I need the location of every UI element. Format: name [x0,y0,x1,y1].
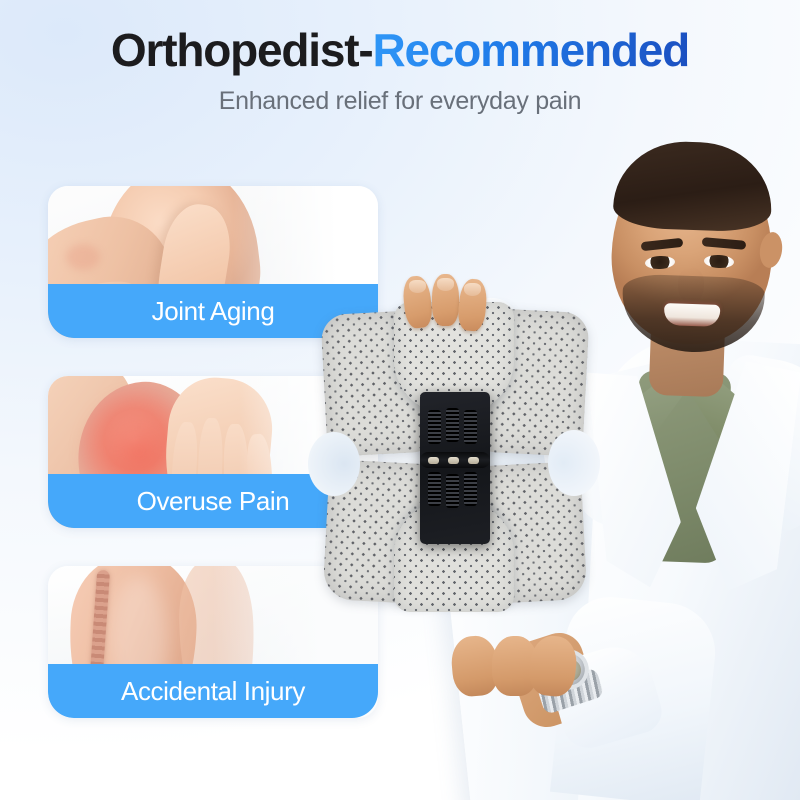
smiling-mouth [664,303,721,327]
headline-primary: Orthopedist- [111,24,373,76]
knee-brace-product [316,296,592,616]
benefit-label: Accidental Injury [121,676,305,707]
benefit-label: Overuse Pain [137,486,290,517]
fingernail [437,278,454,291]
brace-side-notch-right [548,430,600,496]
page-title: Orthopedist-Recommended [0,26,800,76]
brace-hinge-pin [448,457,459,464]
fingernail [409,280,426,293]
brace-spring [446,408,459,442]
brace-side-notch-left [308,432,360,496]
product-ad-banner: Orthopedist-Recommended Enhanced relief … [0,0,800,800]
brace-spring [428,410,441,444]
subtitle: Enhanced relief for everyday pain [0,87,800,116]
hand-holding-brace-bottom [452,636,572,702]
brace-spring [446,474,459,508]
hand-holding-brace-top [402,274,488,330]
benefit-label-bar: Accidental Injury [48,664,378,718]
knuckle-highlight [66,244,100,270]
brace-spring [464,410,477,444]
brace-hinge-pin [428,457,439,464]
headline-accent: Recommended [373,24,690,76]
header: Orthopedist-Recommended Enhanced relief … [0,26,800,116]
fingernail [464,283,481,296]
knuckle [527,634,579,698]
brace-spring [428,472,441,506]
brace-hinge-pin [468,457,479,464]
hair [613,139,774,232]
benefit-label: Joint Aging [152,296,275,327]
brace-spring [464,472,477,506]
